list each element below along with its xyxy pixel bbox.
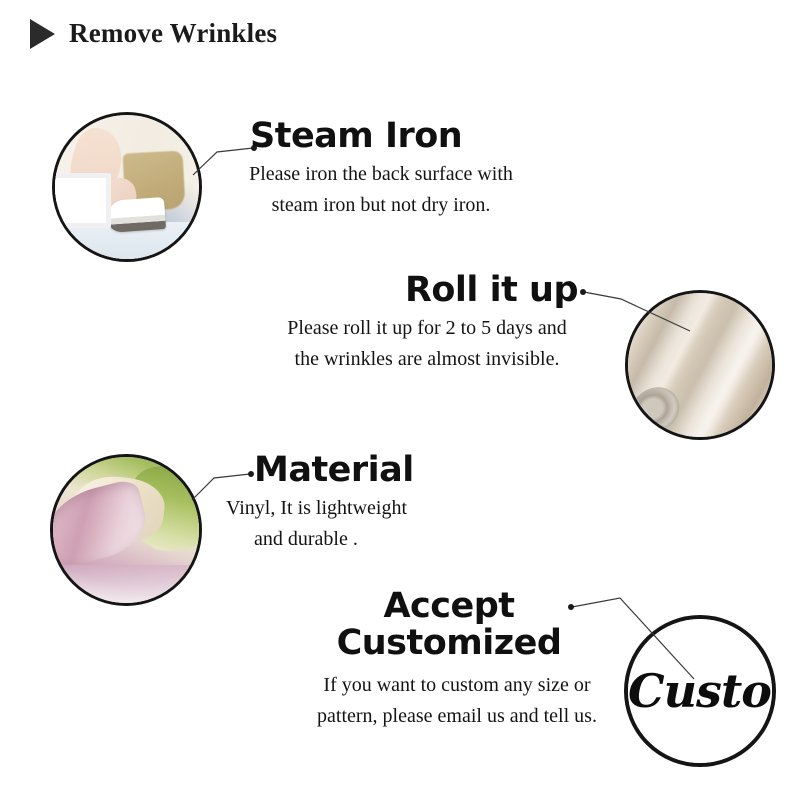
title-line: Accept: [292, 588, 606, 625]
roll-end-shape: [625, 379, 687, 440]
page-header: Remove Wrinkles: [30, 18, 277, 49]
steam-iron-photo-circle: [52, 112, 202, 262]
section-title-accept-customized: Accept Customized: [292, 588, 622, 662]
section-title-material: Material: [212, 452, 542, 489]
material-gloss-shape: [53, 565, 199, 603]
body-line: steam iron but not dry iron.: [210, 190, 552, 221]
section-body-steam-iron: Please iron the back surface with steam …: [210, 159, 570, 221]
page-title: Remove Wrinkles: [69, 18, 277, 49]
body-line: Vinyl, It is lightweight: [226, 493, 542, 524]
section-steam-iron: Steam Iron Please iron the back surface …: [210, 118, 570, 221]
iron-appliance-shape: [106, 197, 166, 233]
section-body-material: Vinyl, It is lightweight and durable .: [212, 493, 542, 555]
section-body-accept-customized: If you want to custom any size or patter…: [292, 670, 622, 732]
section-roll-it-up: Roll it up Please roll it up for 2 to 5 …: [262, 272, 592, 375]
section-material: Material Vinyl, It is lightweight and du…: [212, 452, 542, 555]
section-accept-customized: Accept Customized If you want to custom …: [292, 588, 622, 732]
body-line: and durable .: [226, 524, 542, 555]
body-line: the wrinkles are almost invisible.: [262, 344, 592, 375]
custom-stamp-label: Custom: [628, 664, 772, 718]
section-title-steam-iron: Steam Iron: [210, 118, 570, 155]
body-line: pattern, please email us and tell us.: [292, 701, 622, 732]
body-line: Please iron the back surface with: [210, 159, 552, 190]
vinyl-material-photo: [53, 457, 199, 603]
title-line: Customized: [292, 625, 606, 662]
custom-stamp-background: Custom: [628, 619, 772, 763]
custom-stamp-circle: Custom: [624, 615, 776, 767]
roll-it-up-photo-circle: [625, 290, 775, 440]
body-line: If you want to custom any size or: [292, 670, 622, 701]
steam-iron-photo: [55, 115, 199, 259]
play-triangle-icon: [30, 19, 55, 49]
body-line: Please roll it up for 2 to 5 days and: [262, 313, 592, 344]
vinyl-roll-photo: [628, 293, 772, 437]
section-body-roll-it-up: Please roll it up for 2 to 5 days and th…: [262, 313, 592, 375]
material-photo-circle: [50, 454, 202, 606]
section-title-roll-it-up: Roll it up: [262, 272, 592, 309]
material-pink-fold: [50, 478, 153, 571]
